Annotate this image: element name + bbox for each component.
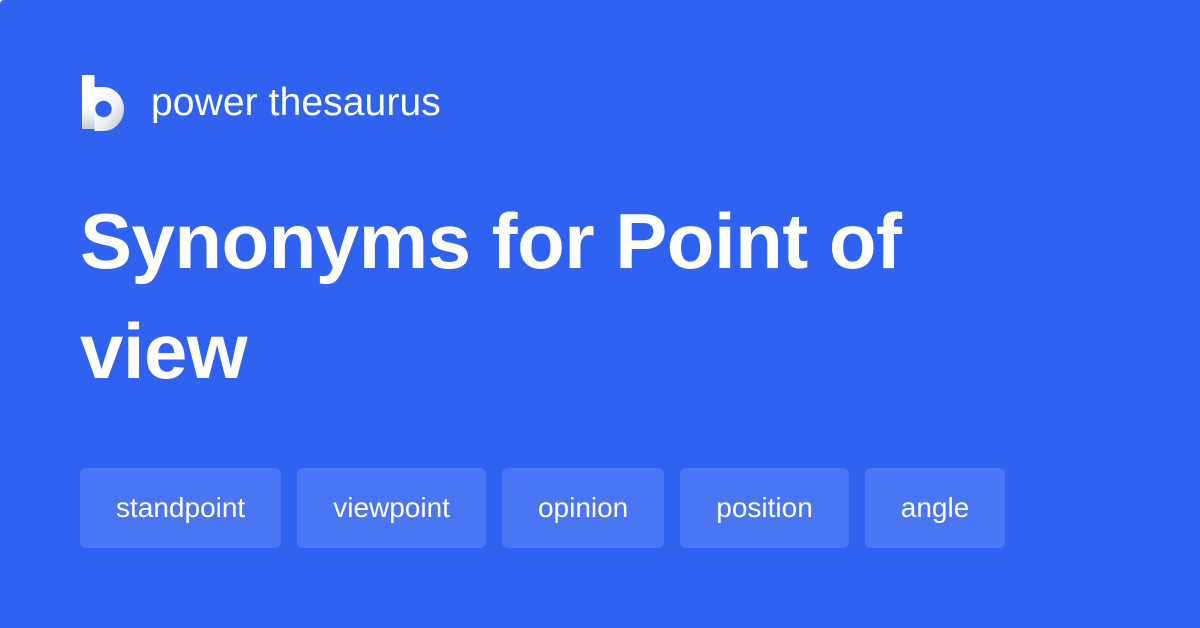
synonym-chip-label: opinion xyxy=(538,494,628,522)
synonym-chip[interactable]: standpoint xyxy=(80,468,281,548)
synonym-chip-label: standpoint xyxy=(116,494,245,522)
brand-name: power thesaurus xyxy=(151,83,441,122)
synonym-chip-label: viewpoint xyxy=(333,494,450,522)
synonym-chip[interactable]: opinion xyxy=(502,468,664,548)
synonym-chip[interactable]: viewpoint xyxy=(297,468,486,548)
social-preview-card: power thesaurus Synonyms for Point of vi… xyxy=(0,0,1200,628)
synonym-chip-label: angle xyxy=(901,494,970,522)
synonym-chip[interactable]: position xyxy=(680,468,849,548)
synonym-chip-list: standpoint viewpoint opinion position an… xyxy=(80,468,1130,548)
power-thesaurus-b-logo-icon xyxy=(80,73,126,131)
synonym-chip-label: position xyxy=(716,494,813,522)
synonym-chip[interactable]: angle xyxy=(865,468,1006,548)
page-title: Synonyms for Point of view xyxy=(80,186,1010,406)
brand-logo[interactable]: power thesaurus xyxy=(80,72,441,132)
